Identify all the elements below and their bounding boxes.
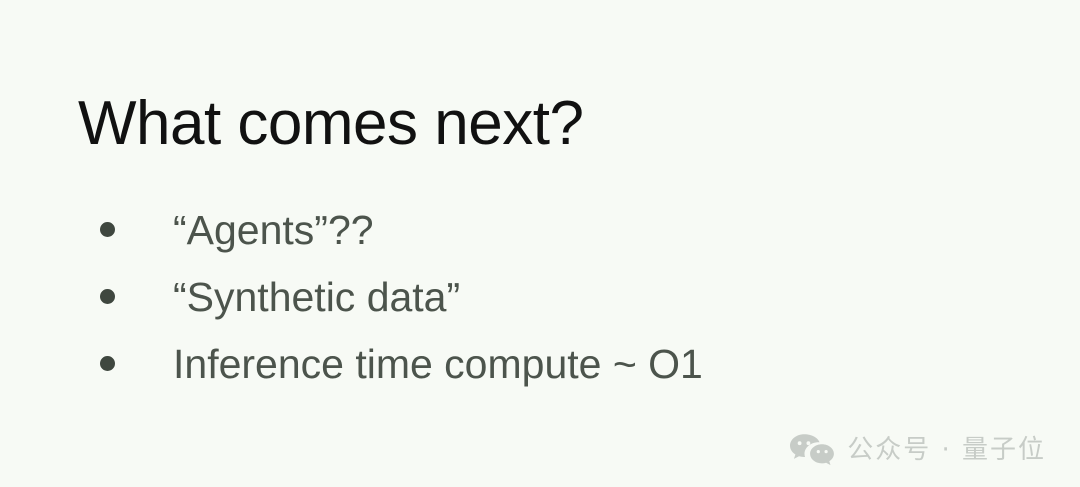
bullet-disc-icon — [100, 222, 115, 237]
slide-canvas: What comes next? “Agents”?? “Synthetic d… — [0, 0, 1080, 487]
list-item-label: “Synthetic data” — [173, 274, 460, 320]
bullet-disc-icon — [100, 289, 115, 304]
wechat-logo-icon — [789, 433, 835, 467]
list-item: “Synthetic data” — [100, 263, 703, 330]
bullet-disc-icon — [100, 356, 115, 371]
list-item: “Agents”?? — [100, 196, 703, 263]
watermark-label: 公众号 · 量子位 — [847, 435, 1046, 465]
list-item-label: Inference time compute ~ O1 — [173, 341, 703, 387]
bullet-list: “Agents”?? “Synthetic data” Inference ti… — [100, 196, 703, 397]
page-title: What comes next? — [78, 88, 583, 160]
list-item-label: “Agents”?? — [173, 207, 374, 253]
list-item: Inference time compute ~ O1 — [100, 330, 703, 397]
watermark: 公众号 · 量子位 — [789, 433, 1046, 467]
